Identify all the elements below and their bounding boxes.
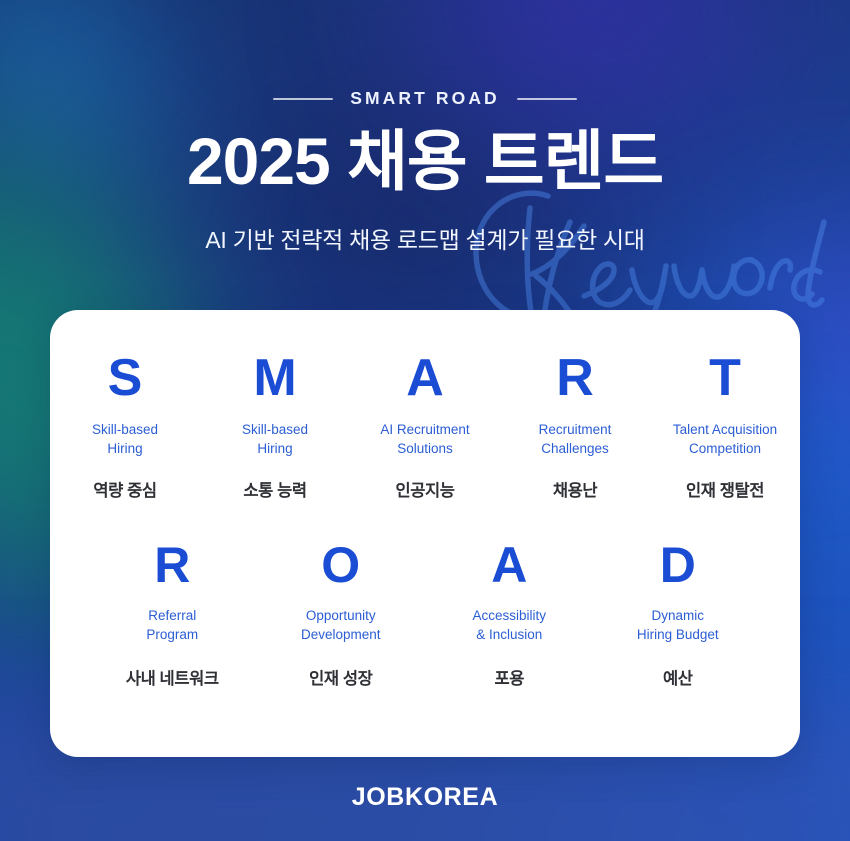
acronym-item-d-road[interactable]: DDynamicHiring Budget예산 <box>594 540 763 689</box>
caption-line-1: Dynamic <box>651 608 704 623</box>
eyebrow-rule-left <box>273 98 333 100</box>
jobkorea-logo: JOBKOREA <box>352 783 499 811</box>
caption-line-1: Talent Acquisition <box>673 422 777 437</box>
acronym-korean-label: 사내 네트워크 <box>126 665 219 689</box>
smart-road-card: SSkill-basedHiring역량 중심MSkill-basedHirin… <box>50 310 800 757</box>
acronym-english-caption: DynamicHiring Budget <box>637 606 719 644</box>
caption-line-2: Hiring <box>107 441 142 456</box>
acronym-letter: M <box>253 352 296 404</box>
acronym-korean-label: 인재 쟁탈전 <box>686 477 764 501</box>
acronym-english-caption: OpportunityDevelopment <box>301 606 381 644</box>
acronym-letter: S <box>108 352 143 404</box>
eyebrow: SMART ROAD <box>0 88 850 109</box>
acronym-korean-label: 역량 중심 <box>93 477 156 501</box>
caption-line-1: Opportunity <box>306 608 376 623</box>
acronym-english-caption: Accessibility& Inclusion <box>472 606 546 644</box>
caption-line-2: Competition <box>689 441 761 456</box>
acronym-korean-label: 인재 성장 <box>309 665 372 689</box>
acronym-korean-label: 소통 능력 <box>243 477 306 501</box>
caption-line-2: Challenges <box>541 441 609 456</box>
smart-row: SSkill-basedHiring역량 중심MSkill-basedHirin… <box>50 352 800 501</box>
acronym-english-caption: AI RecruitmentSolutions <box>380 420 469 458</box>
acronym-item-a-smart[interactable]: AAI RecruitmentSolutions인공지능 <box>350 352 500 501</box>
acronym-english-caption: RecruitmentChallenges <box>539 420 612 458</box>
caption-line-1: Referral <box>148 608 196 623</box>
acronym-letter: A <box>406 352 444 404</box>
page-title: 2025 채용 트렌드 <box>0 125 850 198</box>
acronym-item-r-smart[interactable]: RRecruitmentChallenges채용난 <box>500 352 650 501</box>
acronym-item-r-road[interactable]: RReferralProgram사내 네트워크 <box>88 540 257 689</box>
acronym-english-caption: Talent AcquisitionCompetition <box>673 420 777 458</box>
acronym-letter: D <box>660 540 696 590</box>
acronym-korean-label: 포용 <box>494 665 524 689</box>
acronym-english-caption: Skill-basedHiring <box>242 420 308 458</box>
acronym-letter: A <box>491 540 527 590</box>
page-subtitle: AI 기반 전략적 채용 로드맵 설계가 필요한 시대 <box>0 221 850 255</box>
acronym-item-s-smart[interactable]: SSkill-basedHiring역량 중심 <box>50 352 200 501</box>
acronym-letter: R <box>154 540 190 590</box>
acronym-item-m-smart[interactable]: MSkill-basedHiring소통 능력 <box>200 352 350 501</box>
caption-line-2: Program <box>146 627 198 642</box>
caption-line-1: AI Recruitment <box>380 422 469 437</box>
acronym-item-o-road[interactable]: OOpportunityDevelopment인재 성장 <box>257 540 426 689</box>
caption-line-2: & Inclusion <box>476 627 542 642</box>
caption-line-1: Accessibility <box>472 608 546 623</box>
caption-line-2: Hiring Budget <box>637 627 719 642</box>
acronym-letter: O <box>321 540 360 590</box>
eyebrow-label: SMART ROAD <box>350 88 500 109</box>
footer: JOBKOREA <box>0 783 850 812</box>
caption-line-1: Skill-based <box>92 422 158 437</box>
acronym-english-caption: ReferralProgram <box>146 606 198 644</box>
caption-line-2: Solutions <box>397 441 453 456</box>
eyebrow-rule-right <box>517 98 577 100</box>
caption-line-1: Skill-based <box>242 422 308 437</box>
poster-content: SMART ROAD 2025 채용 트렌드 AI 기반 전략적 채용 로드맵 … <box>0 0 850 841</box>
acronym-letter: R <box>556 352 594 404</box>
road-row: RReferralProgram사내 네트워크OOpportunityDevel… <box>50 540 800 689</box>
acronym-korean-label: 예산 <box>663 665 693 689</box>
acronym-korean-label: 인공지능 <box>395 477 454 501</box>
caption-line-2: Development <box>301 627 381 642</box>
caption-line-1: Recruitment <box>539 422 612 437</box>
caption-line-2: Hiring <box>257 441 292 456</box>
acronym-item-t-smart[interactable]: TTalent AcquisitionCompetition인재 쟁탈전 <box>650 352 800 501</box>
acronym-korean-label: 채용난 <box>553 477 597 501</box>
acronym-english-caption: Skill-basedHiring <box>92 420 158 458</box>
acronym-letter: T <box>709 352 741 404</box>
acronym-item-a-road[interactable]: AAccessibility& Inclusion포용 <box>425 540 594 689</box>
